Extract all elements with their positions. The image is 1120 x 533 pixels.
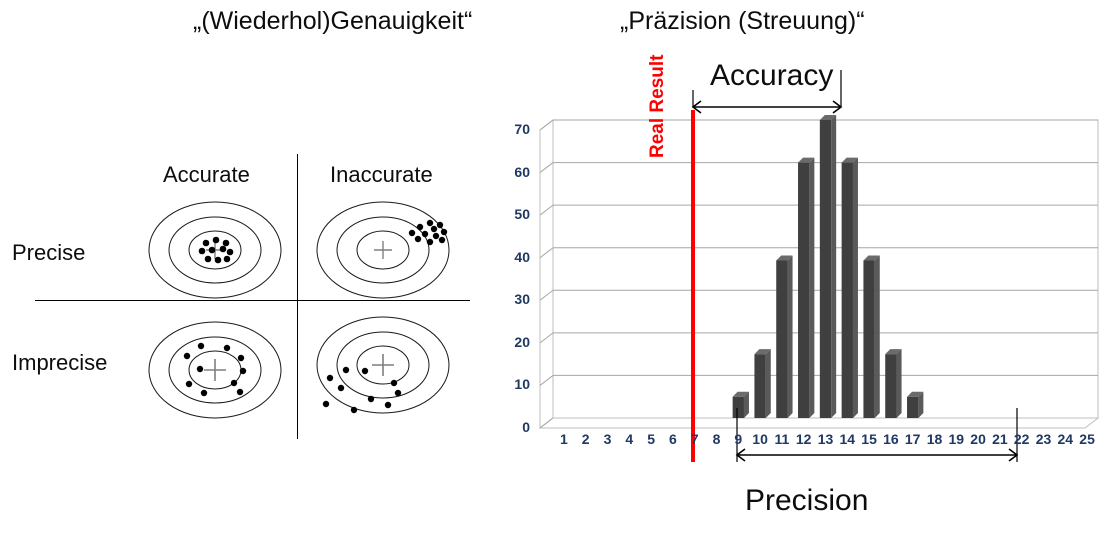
x-axis-tick-label: 11 <box>771 431 793 447</box>
precision-histogram-chart: 010203040506070 123456789101112131415161… <box>505 50 1120 533</box>
histogram-bar <box>885 349 901 418</box>
quadrant-divider-vertical <box>297 154 298 439</box>
x-axis-tick-label: 24 <box>1054 431 1076 447</box>
target-imprecise-accurate <box>140 315 290 425</box>
y-axis-tick-label: 40 <box>498 249 530 265</box>
x-axis-tick-label: 7 <box>684 431 706 447</box>
chart-plot-svg <box>505 50 1120 533</box>
y-axis-tick-label: 20 <box>498 334 530 350</box>
precision-annotation-label: Precision <box>745 484 868 518</box>
y-axis-tick-label: 30 <box>498 291 530 307</box>
real-result-annotation-label: Real Result <box>647 55 669 158</box>
accuracy-precision-target-diagram: Accurate Inaccurate Precise Imprecise <box>0 140 470 440</box>
y-axis-tick-label: 70 <box>498 121 530 137</box>
y-axis-tick-label: 10 <box>498 376 530 392</box>
accuracy-annotation-label: Accuracy <box>710 59 833 93</box>
x-axis-tick-label: 23 <box>1033 431 1055 447</box>
x-axis-tick-label: 2 <box>575 431 597 447</box>
x-axis-tick-label: 4 <box>618 431 640 447</box>
target-precise-accurate <box>140 195 290 305</box>
bullseye-crosshair-icon <box>204 359 226 381</box>
bullseye-crosshair-icon <box>374 241 392 259</box>
title-right-precision: „Präzision (Streuung)“ <box>620 7 865 36</box>
histogram-bar <box>798 158 814 418</box>
histogram-bar <box>754 349 770 418</box>
histogram-bar <box>863 255 879 418</box>
histogram-bar <box>776 255 792 418</box>
x-axis-tick-label: 19 <box>945 431 967 447</box>
row-label-precise: Precise <box>12 240 85 266</box>
x-axis-tick-label: 22 <box>1011 431 1033 447</box>
x-axis-tick-label: 17 <box>902 431 924 447</box>
x-axis-tick-label: 6 <box>662 431 684 447</box>
title-left-accuracy: „(Wiederhol)Genauigkeit“ <box>193 7 472 36</box>
column-label-inaccurate: Inaccurate <box>330 162 433 188</box>
x-axis-tick-label: 1 <box>553 431 575 447</box>
x-axis-tick-label: 5 <box>640 431 662 447</box>
target-imprecise-inaccurate <box>308 315 458 425</box>
x-axis-tick-label: 18 <box>924 431 946 447</box>
row-label-imprecise: Imprecise <box>12 350 107 376</box>
x-axis-tick-label: 9 <box>727 431 749 447</box>
x-axis-tick-label: 20 <box>967 431 989 447</box>
x-axis-tick-label: 8 <box>706 431 728 447</box>
y-axis-tick-label: 50 <box>498 206 530 222</box>
histogram-bar <box>733 392 749 418</box>
y-axis-tick-label: 0 <box>498 419 530 435</box>
x-axis-tick-label: 13 <box>815 431 837 447</box>
chart-3d-frame <box>540 120 1098 428</box>
histogram-bar <box>842 158 858 418</box>
bullseye-crosshair-icon <box>372 354 394 376</box>
x-axis-tick-label: 21 <box>989 431 1011 447</box>
target-precise-inaccurate <box>308 195 458 305</box>
x-axis-tick-label: 25 <box>1076 431 1098 447</box>
column-label-accurate: Accurate <box>163 162 250 188</box>
y-axis-tick-label: 60 <box>498 164 530 180</box>
x-axis-tick-label: 15 <box>858 431 880 447</box>
x-axis-tick-label: 10 <box>749 431 771 447</box>
x-axis-tick-label: 14 <box>836 431 858 447</box>
histogram-bar <box>907 392 923 418</box>
x-axis-tick-label: 3 <box>597 431 619 447</box>
x-axis-tick-label: 12 <box>793 431 815 447</box>
x-axis-tick-label: 16 <box>880 431 902 447</box>
histogram-bar <box>820 115 836 418</box>
